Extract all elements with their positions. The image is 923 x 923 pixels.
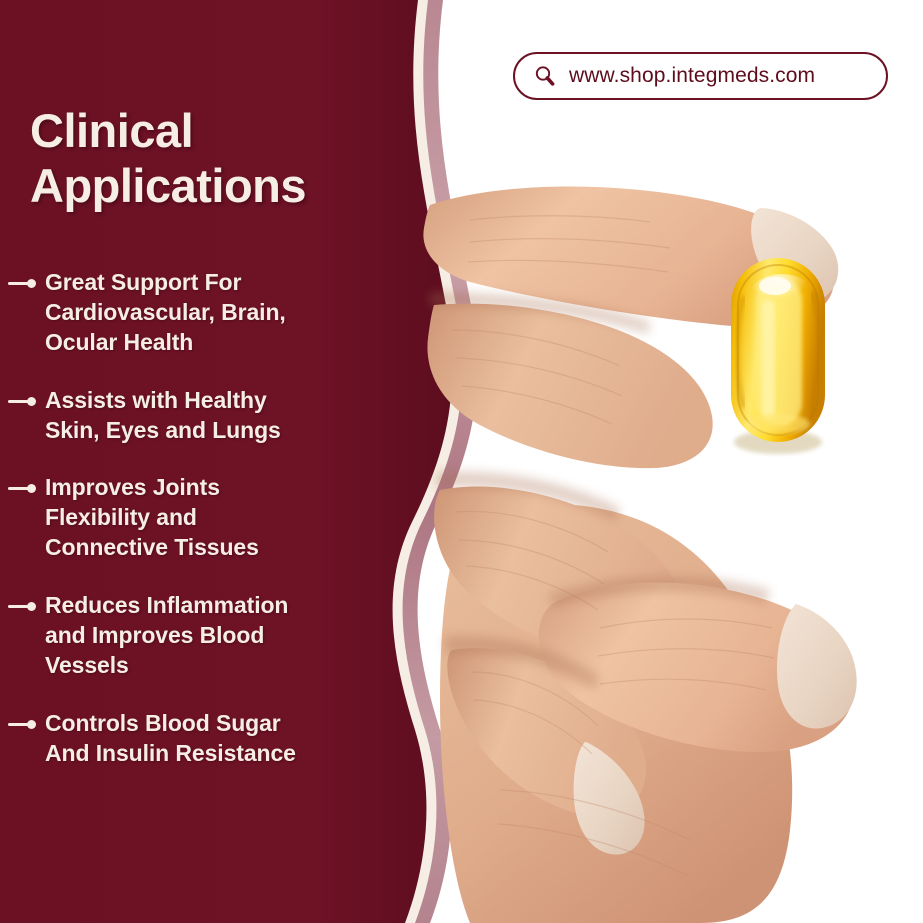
list-item-label: Controls Blood Sugar And Insulin Resista… [45,709,420,769]
ring-finger [434,487,682,657]
line-dot-marker-icon [8,602,36,611]
golden-softgel-capsule [731,258,825,442]
left-text-column: Clinical Applications Great Support For … [0,0,430,923]
list-item: Improves Joints Flexibility and Connecti… [0,473,420,563]
list-item: Great Support For Cardiovascular, Brain,… [0,268,420,358]
clinical-applications-list: Great Support For Cardiovascular, Brain,… [0,268,420,797]
index-finger [423,186,833,326]
index-fingernail [751,208,838,302]
thumb-nail [777,604,857,729]
list-item: Controls Blood Sugar And Insulin Resista… [0,709,420,769]
list-item: Assists with Healthy Skin, Eyes and Lung… [0,386,420,446]
website-url-pill[interactable]: www.shop.integmeds.com [513,52,888,100]
line-dot-marker-icon [8,279,36,288]
website-url-text: www.shop.integmeds.com [569,64,815,88]
pinky-nail [574,742,645,855]
line-dot-marker-icon [8,720,36,729]
promo-graphic: Clinical Applications Great Support For … [0,0,923,923]
list-item-label: Assists with Healthy Skin, Eyes and Lung… [45,386,420,446]
list-item: Reduces Inflammation and Improves Blood … [0,591,420,681]
palm-shape [440,504,792,923]
thumb [539,582,855,752]
list-item-label: Improves Joints Flexibility and Connecti… [45,473,420,563]
search-icon [533,64,557,88]
list-item-label: Great Support For Cardiovascular, Brain,… [45,268,420,358]
line-dot-marker-icon [8,484,36,493]
line-dot-marker-icon [8,397,36,406]
capsule-shadow [734,430,822,454]
page-title: Clinical Applications [30,104,410,214]
middle-finger [427,304,712,469]
list-item-label: Reduces Inflammation and Improves Blood … [45,591,420,681]
skin-creases [452,216,774,876]
pinky-finger [447,648,646,816]
